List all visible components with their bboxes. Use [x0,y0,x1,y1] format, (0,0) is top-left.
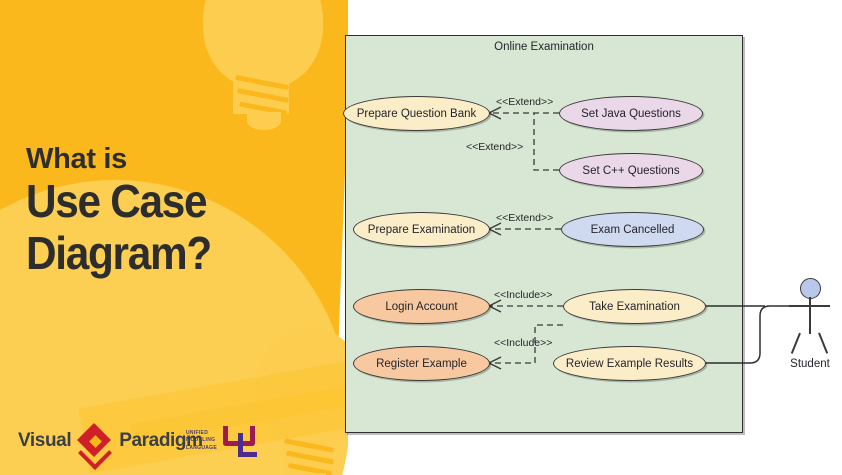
use-case-exam-cancelled[interactable]: Exam Cancelled [561,212,704,247]
use-case-prepare-question-bank[interactable]: Prepare Question Bank [343,96,490,131]
actor-label: Student [774,358,842,370]
uml-glyph-l [238,433,257,457]
use-case-set-java-questions[interactable]: Set Java Questions [559,96,703,131]
actor-student[interactable]: Student [780,278,840,368]
headline-line-1: Use Case [26,176,302,228]
use-case-register-example[interactable]: Register Example [353,346,490,381]
brand-word-visual: Visual [18,430,71,452]
uml-text-line-1: UNIFIED [186,430,208,436]
relationship-label-extend-2: <<Extend>> [466,141,523,153]
use-case-diagram: Online Examination <<Extend>> <<Extend>> [348,0,842,475]
use-case-take-examination[interactable]: Take Examination [563,289,706,324]
relationship-label-extend-3: <<Extend>> [496,212,553,224]
actor-right-leg-icon [818,333,828,354]
vp-diamond-icon [78,424,112,458]
use-case-login-account[interactable]: Login Account [353,289,490,324]
use-case-prepare-examination[interactable]: Prepare Examination [353,212,490,247]
uml-text-line-2: MODELING [186,437,215,443]
screenshot-canvas: What is Use Case Diagram? Visual Paradig… [0,0,842,475]
uml-logo-text: UNIFIED MODELING LANGUAGE [186,430,217,452]
use-case-set-cpp-questions[interactable]: Set C++ Questions [559,153,703,188]
bulb-tip [247,112,281,130]
visual-paradigm-logo: Visual Paradigm [18,424,203,458]
headline-eyebrow: What is [26,142,326,176]
relationship-label-include-1: <<Include>> [494,289,552,301]
headline-line-2: Diagram? [26,228,302,280]
relationship-label-include-2: <<Include>> [494,337,552,349]
use-case-review-example-results[interactable]: Review Example Results [553,346,706,381]
actor-arms-icon [789,305,830,307]
relationship-label-extend-1: <<Extend>> [496,96,553,108]
uml-text-line-3: LANGUAGE [186,445,217,451]
title-banner-panel: What is Use Case Diagram? Visual Paradig… [0,0,348,475]
uml-logo: UNIFIED MODELING LANGUAGE [186,424,261,458]
lightbulb-icon-top [195,0,331,142]
system-boundary-title: Online Examination [345,41,743,53]
actor-head-icon [800,278,821,299]
page-title: What is Use Case Diagram? [26,142,326,279]
uml-glyph-icon [221,424,261,458]
actor-body-icon [809,297,811,334]
actor-left-leg-icon [791,333,801,354]
